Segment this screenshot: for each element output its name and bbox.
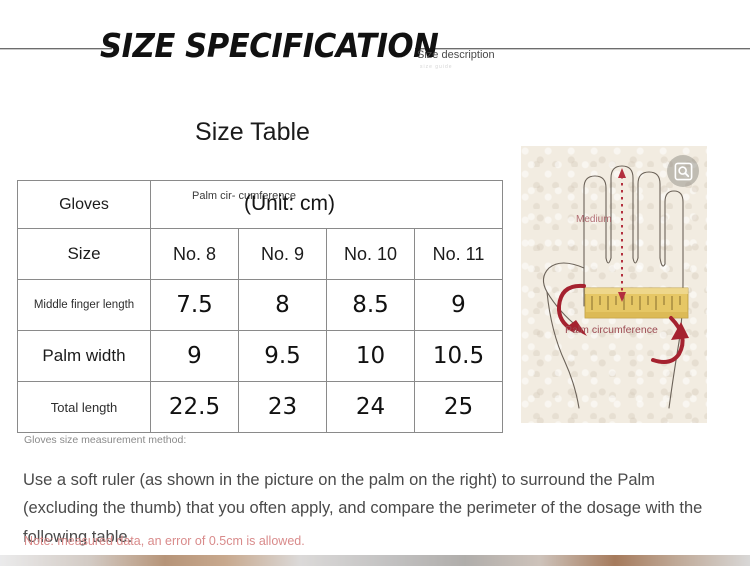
- cell-r2-c0: 22.5: [151, 382, 239, 433]
- measurement-method-label: Gloves size measurement method:: [24, 434, 194, 448]
- table-row: Total length 22.5 23 24 25: [18, 382, 503, 433]
- medium-label: Medium: [576, 214, 612, 225]
- palm-circumference-annotation: Palm circumference: [565, 324, 658, 336]
- unit-label: (Unit: cm): [244, 192, 335, 216]
- size-cell-3: No. 11: [415, 229, 503, 280]
- header-cell-gloves: Gloves: [18, 181, 151, 229]
- header-cell-metric: Palm cir- cumference (Unit: cm): [151, 181, 503, 229]
- hand-measurement-illustration[interactable]: Medium Palm circumference: [521, 146, 707, 423]
- cell-r2-c2: 24: [327, 382, 415, 433]
- table-row-size: Size No. 8 No. 9 No. 10 No. 11: [18, 229, 503, 280]
- table-row: Middle finger length 7.5 8 8.5 9: [18, 280, 503, 331]
- cell-r0-c1: 8: [239, 280, 327, 331]
- wrap-arrow-right-head: [671, 322, 689, 340]
- cell-r1-c0: 9: [151, 331, 239, 382]
- cell-r0-c0: 7.5: [151, 280, 239, 331]
- middle-finger-arrow: [618, 168, 626, 302]
- cell-r1-c1: 9.5: [239, 331, 327, 382]
- size-cell-0: No. 8: [151, 229, 239, 280]
- magnifier-glyph: [674, 162, 693, 181]
- header-ghost-text: size guide: [420, 64, 453, 70]
- header-rule-left: [0, 48, 112, 50]
- cell-r2-c3: 25: [415, 382, 503, 433]
- cell-r0-c2: 8.5: [327, 280, 415, 331]
- header-banner: SIZE SPECIFICATION Size description size…: [0, 20, 750, 80]
- page-title: SIZE SPECIFICATION: [100, 26, 438, 65]
- zoom-icon[interactable]: [667, 155, 699, 187]
- size-table-title: Size Table: [0, 118, 505, 147]
- row-label-palm-width: Palm width: [18, 331, 151, 382]
- hand-diagram-svg: [521, 146, 707, 423]
- header-subtitle: Size description: [417, 49, 495, 61]
- row-label-total-length: Total length: [18, 382, 151, 433]
- size-specification-page: SIZE SPECIFICATION Size description size…: [0, 0, 750, 566]
- cell-r1-c3: 10.5: [415, 331, 503, 382]
- tolerance-note: Note: measured data, an error of 0.5cm i…: [24, 534, 305, 548]
- bottom-image-strip: [0, 555, 750, 566]
- row-label-size: Size: [18, 229, 151, 280]
- table-row: Palm width 9 9.5 10 10.5: [18, 331, 503, 382]
- size-table: Gloves Palm cir- cumference (Unit: cm) S…: [17, 180, 503, 433]
- size-cell-1: No. 9: [239, 229, 327, 280]
- cell-r0-c3: 9: [415, 280, 503, 331]
- row-label-middle-finger-length: Middle finger length: [18, 280, 151, 331]
- size-cell-2: No. 10: [327, 229, 415, 280]
- cell-r2-c1: 23: [239, 382, 327, 433]
- table-row-header: Gloves Palm cir- cumference (Unit: cm): [18, 181, 503, 229]
- cell-r1-c2: 10: [327, 331, 415, 382]
- ruler: [585, 288, 688, 318]
